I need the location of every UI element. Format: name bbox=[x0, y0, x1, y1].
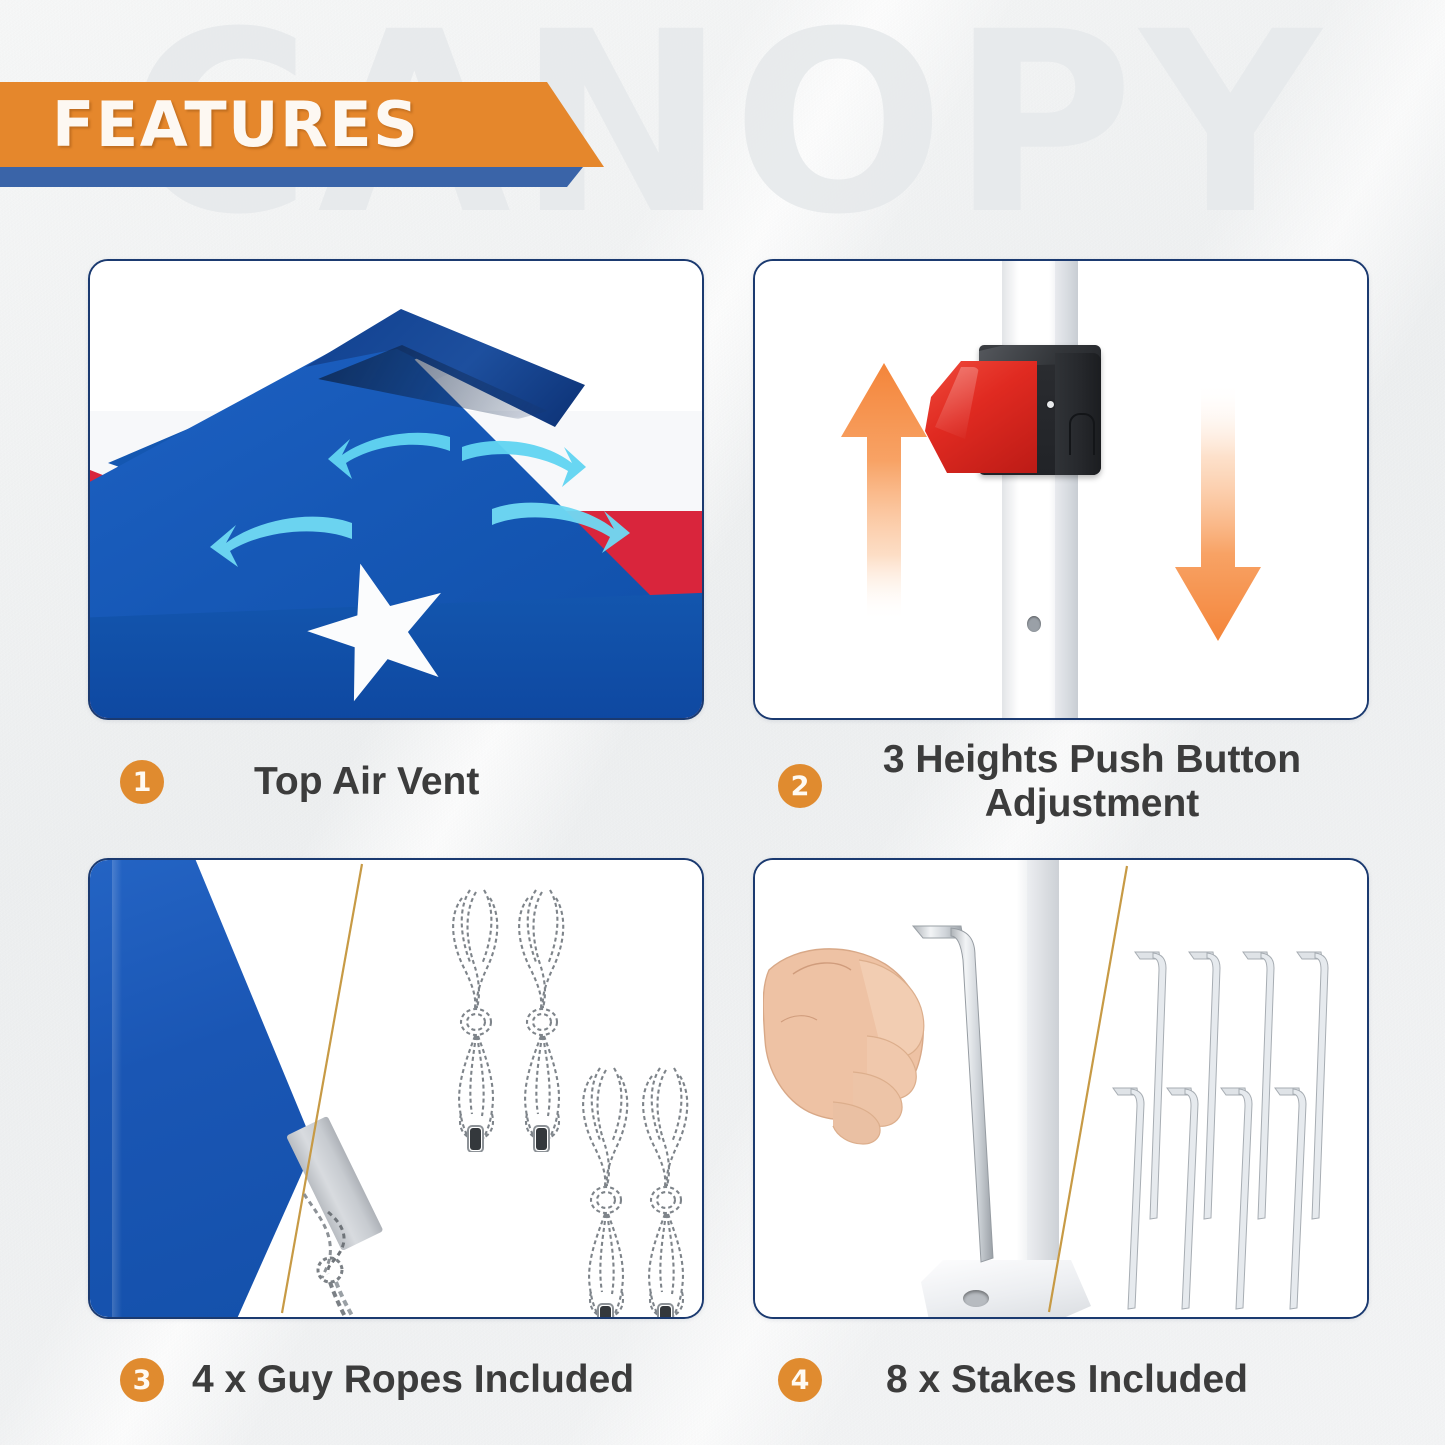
push-button-illustration bbox=[755, 261, 1367, 718]
arrow-down-icon bbox=[1173, 373, 1263, 643]
banner-title: FEATURES bbox=[52, 88, 419, 161]
caption-row-2: 2 3 Heights Push Button Adjustment bbox=[778, 738, 1348, 825]
arrow-up-icon bbox=[839, 361, 929, 621]
guy-rope-bundle-1 bbox=[442, 882, 512, 1152]
feature-badge-2: 2 bbox=[778, 764, 822, 808]
caption-row-1: 1 Top Air Vent bbox=[120, 760, 680, 804]
pole-adjustment-hole bbox=[1027, 616, 1041, 632]
canopy-leg-pole-edge bbox=[1055, 259, 1078, 720]
stakes-illustration bbox=[755, 860, 1367, 1317]
caption-row-3: 3 4 x Guy Ropes Included bbox=[120, 1358, 680, 1402]
feature-caption-1: Top Air Vent bbox=[254, 760, 479, 804]
guy-ropes-illustration bbox=[90, 860, 702, 1317]
feature-caption-2-line-2: Adjustment bbox=[862, 782, 1322, 826]
feature-caption-2: 3 Heights Push Button Adjustment bbox=[862, 738, 1322, 825]
feature-caption-2-line-1: 3 Heights Push Button bbox=[862, 738, 1322, 782]
feature-panel-guy-ropes bbox=[88, 858, 704, 1319]
banner-blue-shape bbox=[0, 167, 600, 187]
guy-rope-bundle-4 bbox=[632, 1060, 702, 1319]
feature-badge-4: 4 bbox=[778, 1358, 822, 1402]
feature-panel-top-air-vent bbox=[88, 259, 704, 720]
airflow-arrow-right-lower-icon bbox=[490, 499, 640, 565]
panel-divider-line-stakes bbox=[755, 860, 1367, 1317]
push-button-slot bbox=[1069, 413, 1095, 455]
push-button-pin bbox=[1047, 401, 1054, 408]
feature-badge-1: 1 bbox=[120, 760, 164, 804]
airflow-arrow-left-upper-icon bbox=[312, 429, 452, 491]
canopy-vent-illustration bbox=[90, 261, 702, 718]
feature-badge-3: 3 bbox=[120, 1358, 164, 1402]
airflow-arrow-left-lower-icon bbox=[194, 513, 354, 579]
feature-caption-3: 4 x Guy Ropes Included bbox=[192, 1358, 634, 1402]
guy-rope-bundle-2 bbox=[508, 882, 578, 1152]
feature-panel-push-button bbox=[753, 259, 1369, 720]
caption-row-4: 4 8 x Stakes Included bbox=[778, 1358, 1348, 1402]
features-banner: FEATURES bbox=[0, 82, 640, 198]
feature-panel-stakes bbox=[753, 858, 1369, 1319]
airflow-arrow-right-upper-icon bbox=[460, 437, 600, 499]
feature-caption-4: 8 x Stakes Included bbox=[886, 1358, 1248, 1402]
